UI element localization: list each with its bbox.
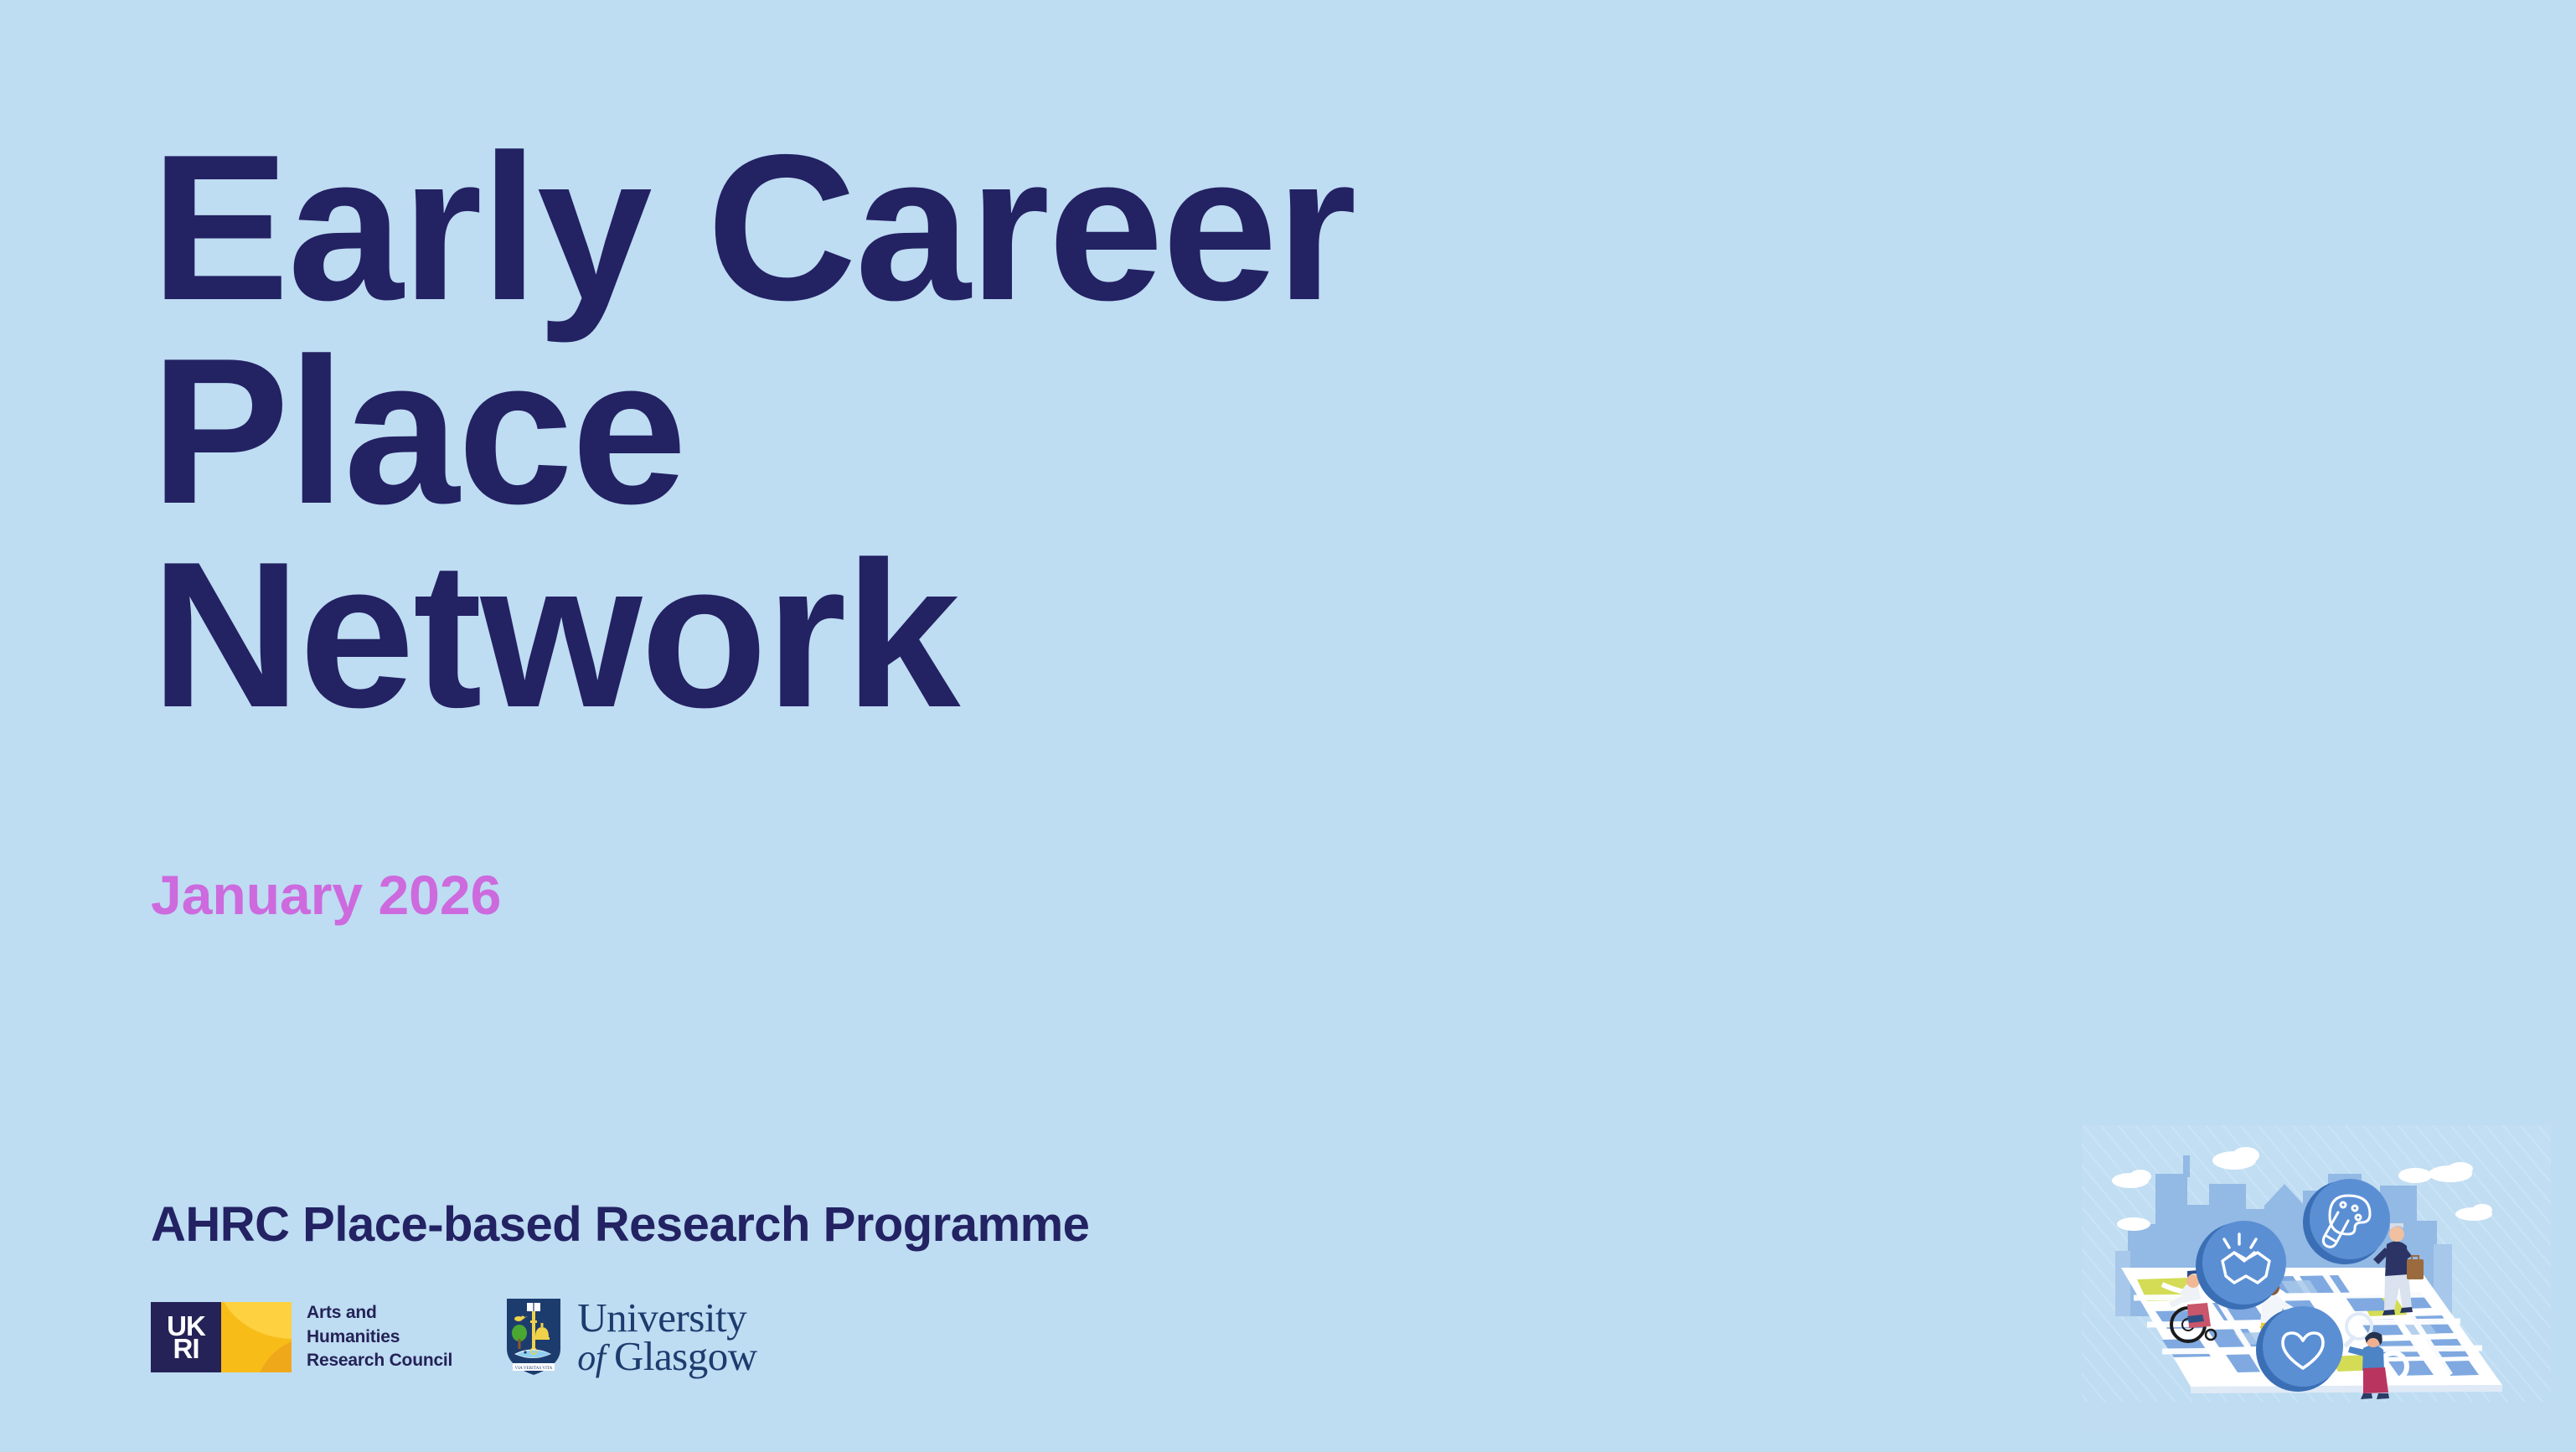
ukri-navy-square: UK RI — [151, 1302, 221, 1372]
ahrc-line-2: Humanities — [307, 1325, 452, 1350]
programme-title: AHRC Place-based Research Programme — [151, 1196, 1089, 1253]
glasgow-crest-icon: VIA VERITAS VITA — [504, 1297, 563, 1377]
university-of-glasgow-logo: VIA VERITAS VITA University of Glasgow — [504, 1297, 756, 1377]
glasgow-of: of — [577, 1337, 614, 1378]
glasgow-line-glasgow: of Glasgow — [577, 1337, 756, 1376]
glasgow-motto: VIA VERITAS VITA — [515, 1366, 553, 1371]
ahrc-line-1: Arts and — [307, 1301, 452, 1325]
ahrc-council-name: Arts and Humanities Research Council — [307, 1301, 452, 1373]
ukri-mark-icon: UK RI — [151, 1302, 292, 1372]
ukri-letters-bottom: RI — [173, 1337, 199, 1360]
title-line-1: Early Career — [151, 126, 1910, 329]
glasgow-wordmark: University of Glasgow — [577, 1299, 756, 1376]
place-map-illustration — [2082, 1125, 2551, 1452]
title-line-2: Place — [151, 329, 1910, 533]
glasgow-word: Glasgow — [614, 1333, 757, 1379]
title-line-3: Network — [151, 533, 1910, 736]
logo-row: UK RI Arts and Humanities Research Counc… — [151, 1297, 757, 1377]
page-title: Early Career Place Network — [151, 126, 1910, 736]
date-label: January 2026 — [151, 863, 501, 927]
ukri-gold-swoosh — [221, 1302, 292, 1372]
ukri-ahrc-logo: UK RI Arts and Humanities Research Counc… — [151, 1301, 452, 1373]
glasgow-line-university: University — [577, 1299, 756, 1337]
ahrc-line-3: Research Council — [307, 1349, 452, 1373]
